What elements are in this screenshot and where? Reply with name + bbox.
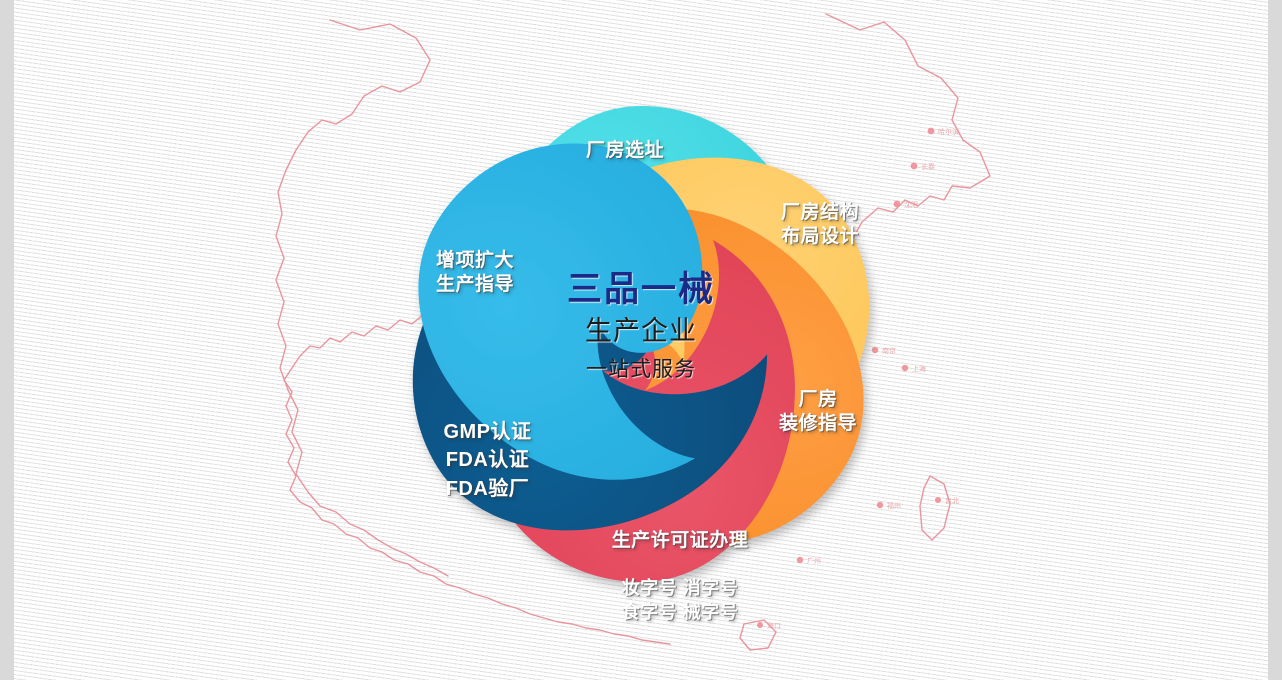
left-edge-bar bbox=[0, 0, 14, 680]
right-edge-bar bbox=[1268, 0, 1282, 680]
infographic-canvas: 哈尔滨 长春 沈阳 北京 郑州 南京 上海 福州 广州 台北 海口 bbox=[0, 0, 1282, 680]
pinwheel-diagram bbox=[341, 44, 941, 644]
